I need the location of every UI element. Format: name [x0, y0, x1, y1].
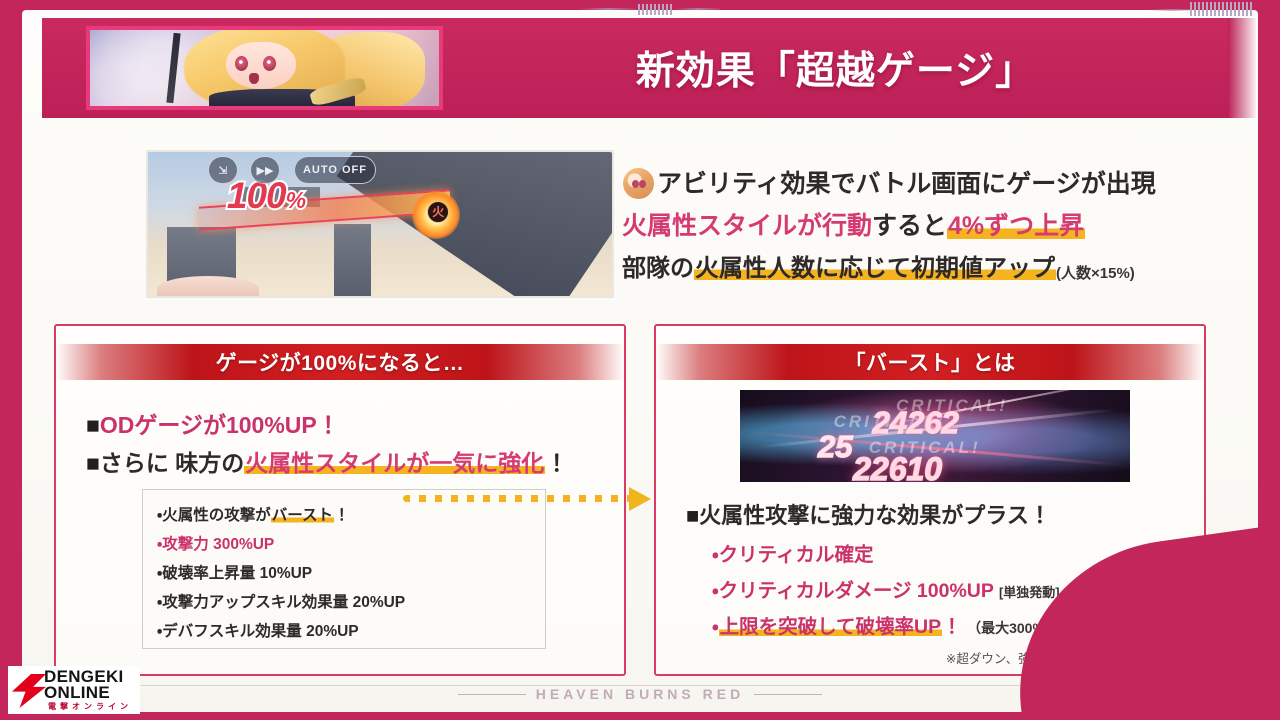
left-panel-line-2-part-a: さらに 味方の: [100, 450, 244, 476]
header-bar: 新効果「超越ゲージ」: [42, 18, 1258, 118]
left-panel-line-2-part-b: 火属性スタイルが一気に強化: [244, 450, 545, 476]
character-avatar-icon: [622, 167, 655, 200]
damage-number: 25: [818, 429, 852, 465]
list-item: ・デバフスキル効果量 20%UP: [157, 617, 531, 646]
description-line-2-part-a: 火属性スタイルが行動: [622, 206, 872, 242]
list-item-suffix: ！: [334, 507, 350, 524]
logo-line-2: ONLINE: [44, 685, 124, 701]
dengeki-online-logo[interactable]: DENGEKI ONLINE 電撃オンライン: [8, 666, 140, 714]
bullet-icon: ・: [712, 544, 719, 566]
burst-effects-box: ・火属性の攻撃がバースト！ ・攻撃力 300%UP ・破壊率上昇量 10%UP …: [142, 489, 546, 649]
list-item: ・クリティカル確定: [712, 538, 873, 567]
description-line-1: アビリティ効果でバトル画面にゲージが出現: [622, 164, 1182, 200]
square-bullet-icon: ■: [686, 503, 699, 528]
character-banner: [86, 26, 443, 110]
list-item: ・火属性の攻撃がバースト！: [157, 501, 531, 530]
list-item: ・攻撃力アップスキル効果量 20%UP: [157, 588, 531, 617]
description-block: アビリティ効果でバトル画面にゲージが出現 火属性スタイルが行動 すると 4%ずつ…: [622, 164, 1182, 283]
left-panel-line-1-text: ODゲージが100%UP！: [100, 412, 340, 438]
logo-text: DENGEKI ONLINE: [44, 669, 124, 701]
list-item-text: 破壊率上昇量 10%UP: [162, 565, 312, 582]
list-item: ・破壊率上昇量 10%UP: [157, 559, 531, 588]
list-item-text: 攻撃力 300%UP: [162, 536, 274, 553]
left-panel-line-2-part-c: ！: [545, 450, 568, 476]
left-panel-line-2: ■さらに 味方の火属性スタイルが一気に強化！: [86, 444, 568, 478]
damage-number: 24262: [873, 405, 959, 441]
list-item-highlight: 上限を突破して破壊率UP: [719, 616, 943, 638]
description-line-3: 部隊の 火属性人数に応じて初期値アップ (人数×15%): [622, 248, 1182, 283]
lightning-bolt-icon: [12, 674, 46, 708]
list-item: ・攻撃力 300%UP: [157, 530, 531, 559]
auto-toggle-button[interactable]: AUTO OFF: [294, 156, 376, 184]
list-item-exclaim: ！: [942, 616, 962, 638]
list-item-highlight: バースト: [271, 507, 334, 524]
list-item: ・上限を突破して破壊率UP！ （最大300%）: [712, 610, 1059, 639]
list-item-text: 攻撃力アップスキル効果量 20%UP: [162, 594, 405, 611]
left-panel-heading: ゲージが100%になると…: [56, 344, 624, 380]
bullet-icon: ・: [712, 580, 719, 602]
right-panel-heading: 「バースト」とは: [656, 344, 1204, 380]
right-panel-subheading: ■火属性攻撃に強力な効果がプラス！: [686, 498, 1051, 530]
corner-decoration: [1110, 660, 1280, 720]
list-item-text: 火属性の攻撃が: [162, 507, 271, 524]
menu-button[interactable]: ⇲: [208, 156, 238, 184]
description-line-3-part-b: 火属性人数に応じて初期値アップ: [694, 248, 1056, 283]
square-bullet-icon: ■: [86, 450, 100, 476]
description-line-1-text: アビリティ効果でバトル画面にゲージが出現: [657, 164, 1156, 200]
logo-subtitle: 電撃オンライン: [48, 701, 132, 712]
description-line-2-part-b: すると: [872, 206, 947, 242]
list-item-tag: [単独発動]: [999, 585, 1060, 600]
page-title: 新効果「超越ゲージ」: [443, 18, 1228, 118]
damage-number: 22610: [853, 451, 942, 482]
square-bullet-icon: ■: [86, 412, 100, 438]
left-panel-line-1: ■ODゲージが100%UP！: [86, 406, 340, 440]
battle-screenshot: 火 100% ⇲ ▶▶ AUTO OFF: [146, 150, 614, 298]
bullet-icon: ・: [712, 616, 719, 638]
description-line-3-note: (人数×15%): [1056, 262, 1135, 283]
left-panel: ゲージが100%になると… ■ODゲージが100%UP！ ■さらに 味方の火属性…: [54, 324, 626, 676]
description-line-3-part-a: 部隊の: [622, 248, 694, 283]
right-panel-subheading-text: 火属性攻撃に強力な効果がプラス！: [699, 503, 1051, 528]
critical-damage-screenshot: CRITICAL! CRITICAL! CRITICAL! 24262 25 2…: [740, 390, 1130, 482]
list-item-text: クリティカル確定: [719, 544, 874, 566]
list-item-text: デバフスキル効果量 20%UP: [162, 623, 358, 640]
slide-root: 新効果「超越ゲージ」 火 100% ⇲ ▶▶ AUTO OFF アビリティ効果で…: [0, 0, 1280, 720]
description-line-2-part-c: 4%ずつ上昇: [947, 206, 1085, 242]
fast-forward-button[interactable]: ▶▶: [250, 156, 280, 184]
description-line-2: 火属性スタイルが行動 すると 4%ずつ上昇: [622, 206, 1182, 242]
list-item: ・クリティカルダメージ 100%UP [単独発動]: [712, 574, 1060, 603]
list-item-text: クリティカルダメージ 100%UP: [719, 580, 994, 602]
